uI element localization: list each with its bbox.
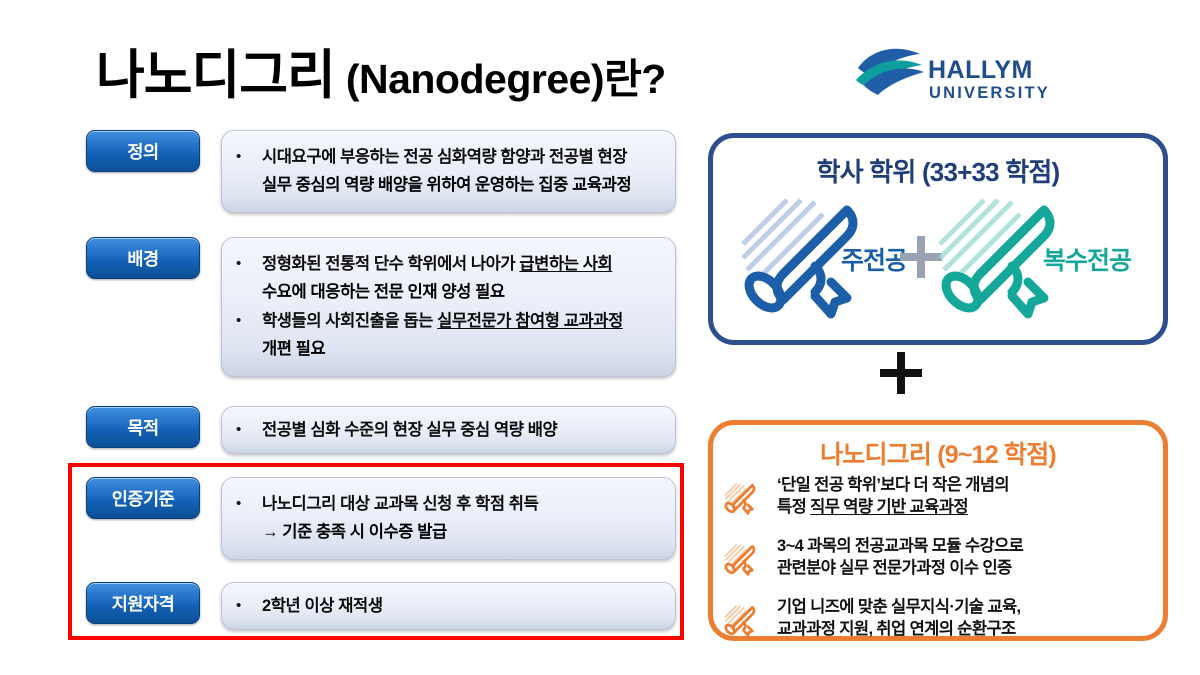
list-item: 기업 니즈에 맞춘 실무지식·기술 교육, 교과과정 지원, 취업 연계의 순환… [721, 595, 1153, 648]
nanodegree-box: 나노디그리 (9~12 학점) [708, 420, 1168, 641]
nanodegree-list: ‘단일 전공 학위’보다 더 작은 개념의 특정 직무 역량 기반 교육과정 [721, 473, 1153, 656]
plus-icon-middle [880, 352, 922, 394]
list-item-text: 기업 니즈에 맞춘 실무지식·기술 교육, 교과과정 지원, 취업 연계의 순환… [777, 595, 1153, 640]
diploma-scroll-icon [721, 534, 777, 587]
bachelor-degree-box: 학사 학위 (33+33 학점) [708, 133, 1168, 345]
list-item: 3~4 과목의 전공교과목 모듈 수강으로 관련분야 실무 전문가과정 이수 인… [721, 534, 1153, 587]
list-item: ‘단일 전공 학위’보다 더 작은 개념의 특정 직무 역량 기반 교육과정 [721, 473, 1153, 526]
nanodegree-title: 나노디그리 (9~12 학점) [713, 435, 1163, 471]
diploma-scroll-icon [721, 473, 777, 526]
list-item-text: ‘단일 전공 학위’보다 더 작은 개념의 특정 직무 역량 기반 교육과정 [777, 473, 1153, 518]
right-column: 학사 학위 (33+33 학점) [0, 0, 1200, 675]
slide-canvas: 나노디그리 (Nanodegree)란? HALLYM UNIVERSITY 정… [0, 0, 1200, 675]
diploma-scroll-icon [721, 595, 777, 648]
diploma-label-double-major: 복수전공 [1043, 241, 1131, 277]
bachelor-degree-title: 학사 학위 (33+33 학점) [713, 152, 1163, 189]
list-item-text: 3~4 과목의 전공교과목 모듈 수강으로 관련분야 실무 전문가과정 이수 인… [777, 534, 1153, 579]
